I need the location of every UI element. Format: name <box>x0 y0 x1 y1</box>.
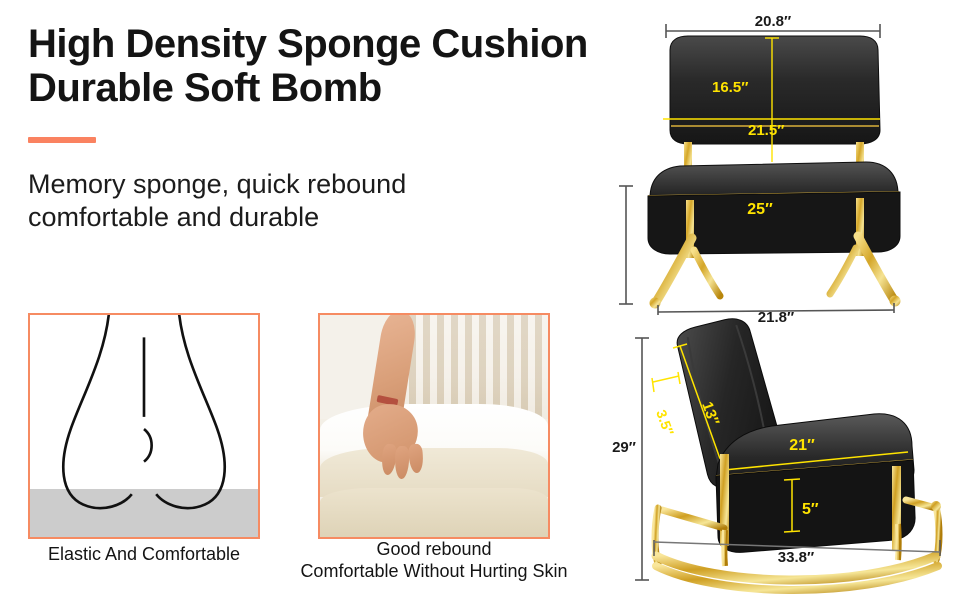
caption-rebound-line-1: Good rebound <box>376 539 491 559</box>
subtitle-line-1: Memory sponge, quick rebound <box>28 169 406 199</box>
photo-foam-layer-bottom <box>320 488 548 537</box>
headline-line-2: Durable Soft Bomb <box>28 66 668 110</box>
page-subtitle: Memory sponge, quick rebound comfortable… <box>28 168 628 234</box>
dim-label-overall-height: 29″ <box>612 439 636 456</box>
headline-line-1: High Density Sponge Cushion <box>28 22 588 66</box>
dim-label-backrest-bottom: 21.5″ <box>748 122 784 139</box>
chair-front-view-diagram: 20.8″ 16.5″ 21.5″ 25″ <box>608 2 970 322</box>
dim-label-rocker-base-width: 33.8″ <box>778 549 814 566</box>
dim-backrest-thickness: 3.5″ <box>652 372 680 438</box>
subtitle-line-2: comfortable and durable <box>28 201 628 234</box>
dim-top-width: 20.8″ <box>666 13 880 38</box>
dim-label-top-width: 20.8″ <box>755 13 791 30</box>
dim-label-seat-depth: 21″ <box>789 437 815 454</box>
dim-label-backrest-thickness: 3.5″ <box>653 408 677 438</box>
accent-divider <box>28 137 96 143</box>
caption-elastic-line-1: Elastic And Comfortable <box>48 544 240 564</box>
infographic-canvas: High Density Sponge Cushion Durable Soft… <box>0 0 970 600</box>
dim-label-backrest-height: 16.5″ <box>712 79 748 96</box>
dim-label-cushion-thickness: 5″ <box>802 501 819 518</box>
feature-panel-rebound <box>318 313 550 539</box>
panel-caption-elastic: Elastic And Comfortable <box>10 543 278 565</box>
page-title: High Density Sponge Cushion Durable Soft… <box>28 22 668 110</box>
memory-foam-photo <box>320 315 548 537</box>
seated-silhouette-icon <box>30 315 258 537</box>
chair-side-view-diagram: 29″ 13″ 3.5″ 21″ <box>606 318 970 600</box>
dim-overall-height: 29″ <box>612 338 649 580</box>
caption-rebound-line-2: Comfortable Without Hurting Skin <box>300 560 568 582</box>
dim-seat-to-floor: 16.5″ <box>608 186 633 304</box>
panel-caption-rebound: Good rebound Comfortable Without Hurting… <box>300 538 568 582</box>
feature-panel-elastic <box>28 313 260 539</box>
dim-label-seat-width: 25″ <box>747 201 773 218</box>
